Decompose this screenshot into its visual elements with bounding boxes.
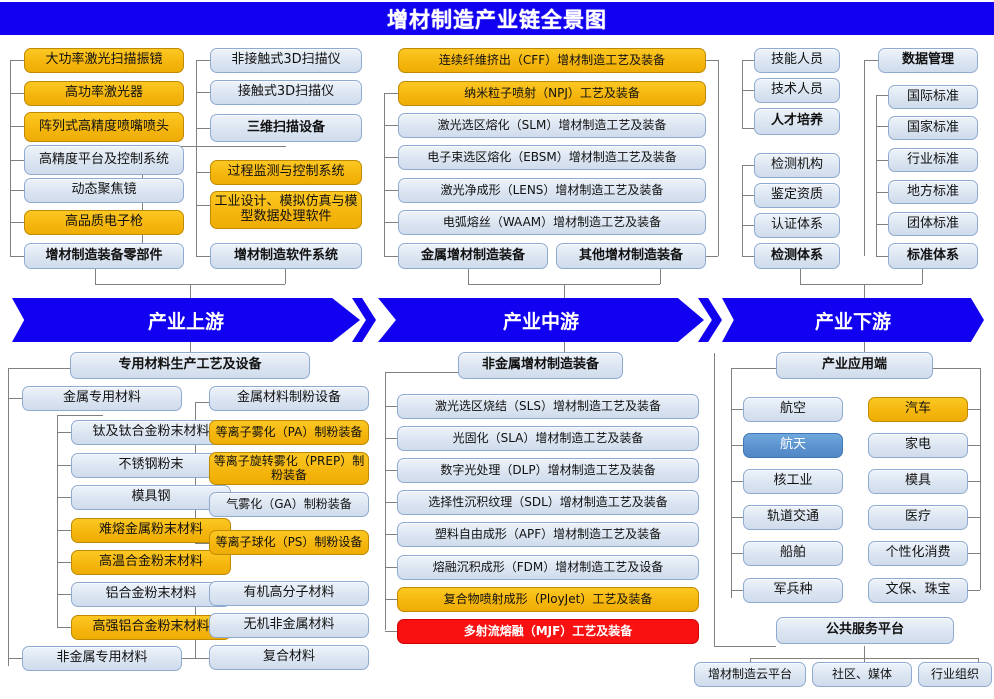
connector — [384, 125, 398, 126]
node-software-header[interactable]: 增材制造软件系统 — [210, 243, 362, 269]
node-application-header[interactable]: 产业应用端 — [776, 352, 933, 379]
connector — [731, 481, 743, 482]
connector — [384, 93, 398, 94]
connector — [718, 60, 719, 256]
connector — [968, 481, 980, 482]
connector — [57, 432, 71, 433]
connector — [384, 222, 398, 223]
connector — [10, 222, 24, 223]
node-nonmetal-item[interactable]: 复合材料 — [209, 645, 369, 670]
node-scanning-item[interactable]: 非接触式3D扫描仪 — [210, 48, 362, 73]
node-midstream-process[interactable]: 电子束选区熔化（EBSM）增材制造工艺及装备 — [398, 145, 706, 170]
node-software-item[interactable]: 工业设计、模拟仿真与模型数据处理软件 — [210, 191, 362, 229]
connector — [384, 256, 398, 257]
node-application-item[interactable]: 船舶 — [743, 541, 843, 566]
connector — [876, 224, 888, 225]
connector — [731, 590, 743, 591]
node-metal-equipment-header[interactable]: 金属增材制造装备 — [398, 243, 548, 269]
node-talent-item[interactable]: 技能人员 — [754, 48, 840, 73]
node-metal-material-item[interactable]: 高温合金粉末材料 — [71, 550, 231, 575]
connector — [742, 60, 743, 128]
node-standard-item[interactable]: 团体标准 — [888, 212, 978, 236]
node-application-item[interactable]: 航天 — [743, 433, 843, 458]
connector — [876, 126, 888, 127]
node-midstream-process[interactable]: 激光净成形（LENS）增材制造工艺及装备 — [398, 178, 706, 203]
connector — [742, 165, 754, 166]
connector — [876, 256, 888, 257]
connector — [742, 90, 754, 91]
node-powder-item[interactable]: 等离子旋转雾化（PREP）制粉装备 — [209, 452, 369, 485]
node-testing-item[interactable]: 认证体系 — [754, 213, 840, 238]
connector — [800, 268, 801, 284]
band-midstream[interactable]: 产业中游 — [378, 298, 704, 342]
node-metal-material-item[interactable]: 不锈钢粉末 — [71, 453, 231, 478]
node-application-item[interactable]: 家电 — [868, 433, 968, 458]
connector — [385, 372, 386, 630]
connector — [800, 284, 922, 285]
node-platform-header[interactable]: 公共服务平台 — [776, 617, 954, 644]
connector — [384, 93, 385, 256]
node-platform-item[interactable]: 增材制造云平台 — [694, 662, 806, 687]
node-standard-item[interactable]: 国家标准 — [888, 116, 978, 140]
connector — [731, 445, 743, 446]
connector — [742, 128, 754, 129]
node-powder-item[interactable]: 气雾化（GA）制粉装备 — [209, 492, 369, 517]
connector — [385, 438, 397, 439]
connector — [706, 60, 718, 61]
node-nonmetal-process[interactable]: 熔融沉积成形（FDM）增材制造工艺及设备 — [397, 555, 699, 580]
node-nonmetal-process[interactable]: 光固化（SLA）增材制造工艺及装备 — [397, 426, 699, 451]
node-platform-item[interactable]: 行业组织 — [918, 662, 992, 687]
connector — [10, 93, 24, 94]
connector — [10, 60, 24, 61]
node-application-item[interactable]: 核工业 — [743, 469, 843, 494]
node-standard-item[interactable]: 行业标准 — [888, 148, 978, 172]
connector — [196, 256, 210, 257]
connector — [57, 465, 71, 466]
connector — [8, 658, 22, 659]
connector — [468, 268, 469, 284]
node-application-item[interactable]: 轨道交通 — [743, 505, 843, 530]
connector — [980, 368, 981, 590]
connector — [195, 402, 209, 403]
connector — [10, 256, 24, 257]
connector — [57, 627, 71, 628]
connector — [57, 562, 71, 563]
node-nonmetal-process[interactable]: 选择性沉积纹理（SDL）增材制造工艺及装备 — [397, 490, 699, 515]
node-standards-header[interactable]: 标准体系 — [888, 243, 978, 269]
connector — [731, 553, 743, 554]
node-metal-material-item[interactable]: 模具钢 — [71, 485, 231, 510]
connector — [714, 353, 715, 646]
node-testing-item[interactable]: 鉴定资质 — [754, 183, 840, 208]
node-upstream-component[interactable]: 大功率激光扫描振镜 — [24, 48, 184, 73]
connector — [10, 60, 11, 256]
node-talent-item[interactable]: 技术人员 — [754, 78, 840, 103]
node-midstream-process[interactable]: 激光选区熔化（SLM）增材制造工艺及装备 — [398, 113, 706, 138]
connector — [10, 126, 24, 127]
node-upstream-component[interactable]: 阵列式高精度喷嘴喷头 — [24, 112, 184, 142]
connector — [196, 205, 210, 206]
node-software-item[interactable]: 过程监测与控制系统 — [210, 160, 362, 185]
connector — [968, 553, 980, 554]
node-application-item[interactable]: 军兵种 — [743, 578, 843, 603]
node-midstream-process[interactable]: 连续纤维挤出（CFF）增材制造工艺及装备 — [398, 48, 706, 73]
connector — [742, 256, 754, 257]
connector — [660, 268, 661, 284]
connector — [742, 225, 754, 226]
node-upstream-component[interactable]: 高功率激光器 — [24, 81, 184, 106]
band-downstream[interactable]: 产业下游 — [722, 298, 984, 342]
node-metal-materials[interactable]: 金属专用材料 — [22, 386, 182, 411]
node-upstream-component[interactable]: 高品质电子枪 — [24, 210, 184, 235]
node-nonmetal-process[interactable]: 复合物喷射成形（PloyJet）工艺及装备 — [397, 587, 699, 612]
node-other-equipment-header[interactable]: 其他增材制造装备 — [556, 243, 706, 269]
page-title: 增材制造产业链全景图 — [0, 2, 994, 35]
connector — [8, 398, 22, 399]
connector — [968, 409, 980, 410]
node-powder-item[interactable]: 等离子雾化（PA）制粉装备 — [209, 420, 369, 445]
node-nonmetal-process[interactable]: 塑料自由成形（APF）增材制造工艺及装备 — [397, 522, 699, 547]
node-powder-equipment[interactable]: 金属材料制粉设备 — [209, 386, 369, 411]
diagram-canvas: 增材制造产业链全景图 — [0, 0, 994, 699]
connector — [876, 95, 888, 96]
node-application-item[interactable]: 医疗 — [868, 505, 968, 530]
connector — [876, 192, 888, 193]
connector — [933, 368, 980, 369]
connector — [876, 160, 888, 161]
connector — [731, 517, 743, 518]
connector — [864, 646, 865, 658]
node-platform-item[interactable]: 社区、媒体 — [812, 662, 912, 687]
connector — [385, 470, 397, 471]
connector — [196, 92, 210, 93]
connector — [385, 406, 397, 407]
connector — [95, 268, 96, 284]
node-nonmetal-materials[interactable]: 非金属专用材料 — [22, 646, 182, 671]
node-testing-item[interactable]: 检测机构 — [754, 153, 840, 178]
node-nonmetal-process-highlight[interactable]: 多射流熔融（MJF）工艺及装备 — [397, 619, 699, 644]
connector — [922, 268, 923, 284]
connector — [968, 590, 980, 591]
node-scanning-item[interactable]: 接触式3D扫描仪 — [210, 80, 362, 105]
connector — [876, 95, 877, 256]
node-material-header[interactable]: 专用材料生产工艺及设备 — [70, 352, 310, 379]
node-data-management[interactable]: 数据管理 — [878, 48, 978, 73]
node-upstream-components-header[interactable]: 增材制造装备零部件 — [24, 243, 184, 269]
connector — [196, 128, 210, 129]
band-upstream[interactable]: 产业上游 — [12, 298, 360, 342]
node-metal-material-item[interactable]: 铝合金粉末材料 — [71, 582, 231, 607]
connector — [57, 497, 71, 498]
connector — [714, 646, 776, 647]
node-application-item[interactable]: 航空 — [743, 397, 843, 422]
connector — [57, 530, 71, 531]
node-metal-material-item[interactable]: 高强铝合金粉末材料 — [71, 615, 231, 640]
connector — [385, 631, 397, 632]
connector — [742, 165, 743, 256]
node-testing-header[interactable]: 检测体系 — [754, 243, 840, 269]
connector — [968, 445, 980, 446]
connector — [196, 60, 210, 61]
node-application-item[interactable]: 个性化消费 — [868, 541, 968, 566]
connector — [385, 599, 397, 600]
connector — [10, 160, 24, 161]
connector — [968, 517, 980, 518]
node-talent-header[interactable]: 人才培养 — [754, 108, 840, 135]
node-nonmetal-item[interactable]: 无机非金属材料 — [209, 613, 369, 638]
connector — [285, 268, 286, 284]
connector — [864, 60, 878, 61]
connector — [742, 195, 754, 196]
node-scanning-header[interactable]: 三维扫描设备 — [210, 114, 362, 142]
node-standard-item[interactable]: 国际标准 — [888, 85, 978, 109]
connector — [385, 534, 397, 535]
node-metal-material-item[interactable]: 钛及钛合金粉末材料 — [71, 420, 231, 445]
connector — [384, 190, 398, 191]
connector — [196, 172, 197, 256]
node-midstream-process[interactable]: 电弧熔丝（WAAM）增材制造工艺及装备 — [398, 210, 706, 235]
connector — [385, 502, 397, 503]
node-standard-item[interactable]: 地方标准 — [888, 180, 978, 204]
connector — [10, 190, 24, 191]
connector — [196, 172, 210, 173]
connector — [706, 256, 718, 257]
connector — [384, 157, 398, 158]
node-upstream-component[interactable]: 动态聚焦镜 — [24, 178, 184, 203]
node-nonmetal-item[interactable]: 有机高分子材料 — [209, 581, 369, 606]
node-application-item[interactable]: 模具 — [868, 469, 968, 494]
node-nonmetal-process[interactable]: 激光选区烧结（SLS）增材制造工艺及装备 — [397, 394, 699, 419]
node-metal-material-item[interactable]: 难熔金属粉末材料 — [71, 518, 231, 543]
connector — [195, 543, 209, 544]
node-nonmetal-process[interactable]: 数字光处理（DLP）增材制造工艺及装备 — [397, 458, 699, 483]
node-midstream-process[interactable]: 纳米粒子喷射（NPJ）工艺及装备 — [398, 81, 706, 106]
node-powder-item[interactable]: 等离子球化（PS）制粉设备 — [209, 530, 369, 555]
node-application-item[interactable]: 汽车 — [868, 397, 968, 422]
connector — [731, 409, 743, 410]
node-nonmetal-equipment-header[interactable]: 非金属增材制造装备 — [458, 352, 623, 379]
connector — [57, 594, 71, 595]
connector — [57, 415, 58, 628]
node-application-item[interactable]: 文保、珠宝 — [868, 578, 968, 603]
node-upstream-component[interactable]: 高精度平台及控制系统 — [24, 145, 184, 175]
connector — [385, 567, 397, 568]
connector — [57, 415, 103, 416]
connector — [731, 368, 732, 598]
connector — [864, 60, 865, 256]
connector — [742, 60, 754, 61]
connector — [8, 368, 9, 666]
